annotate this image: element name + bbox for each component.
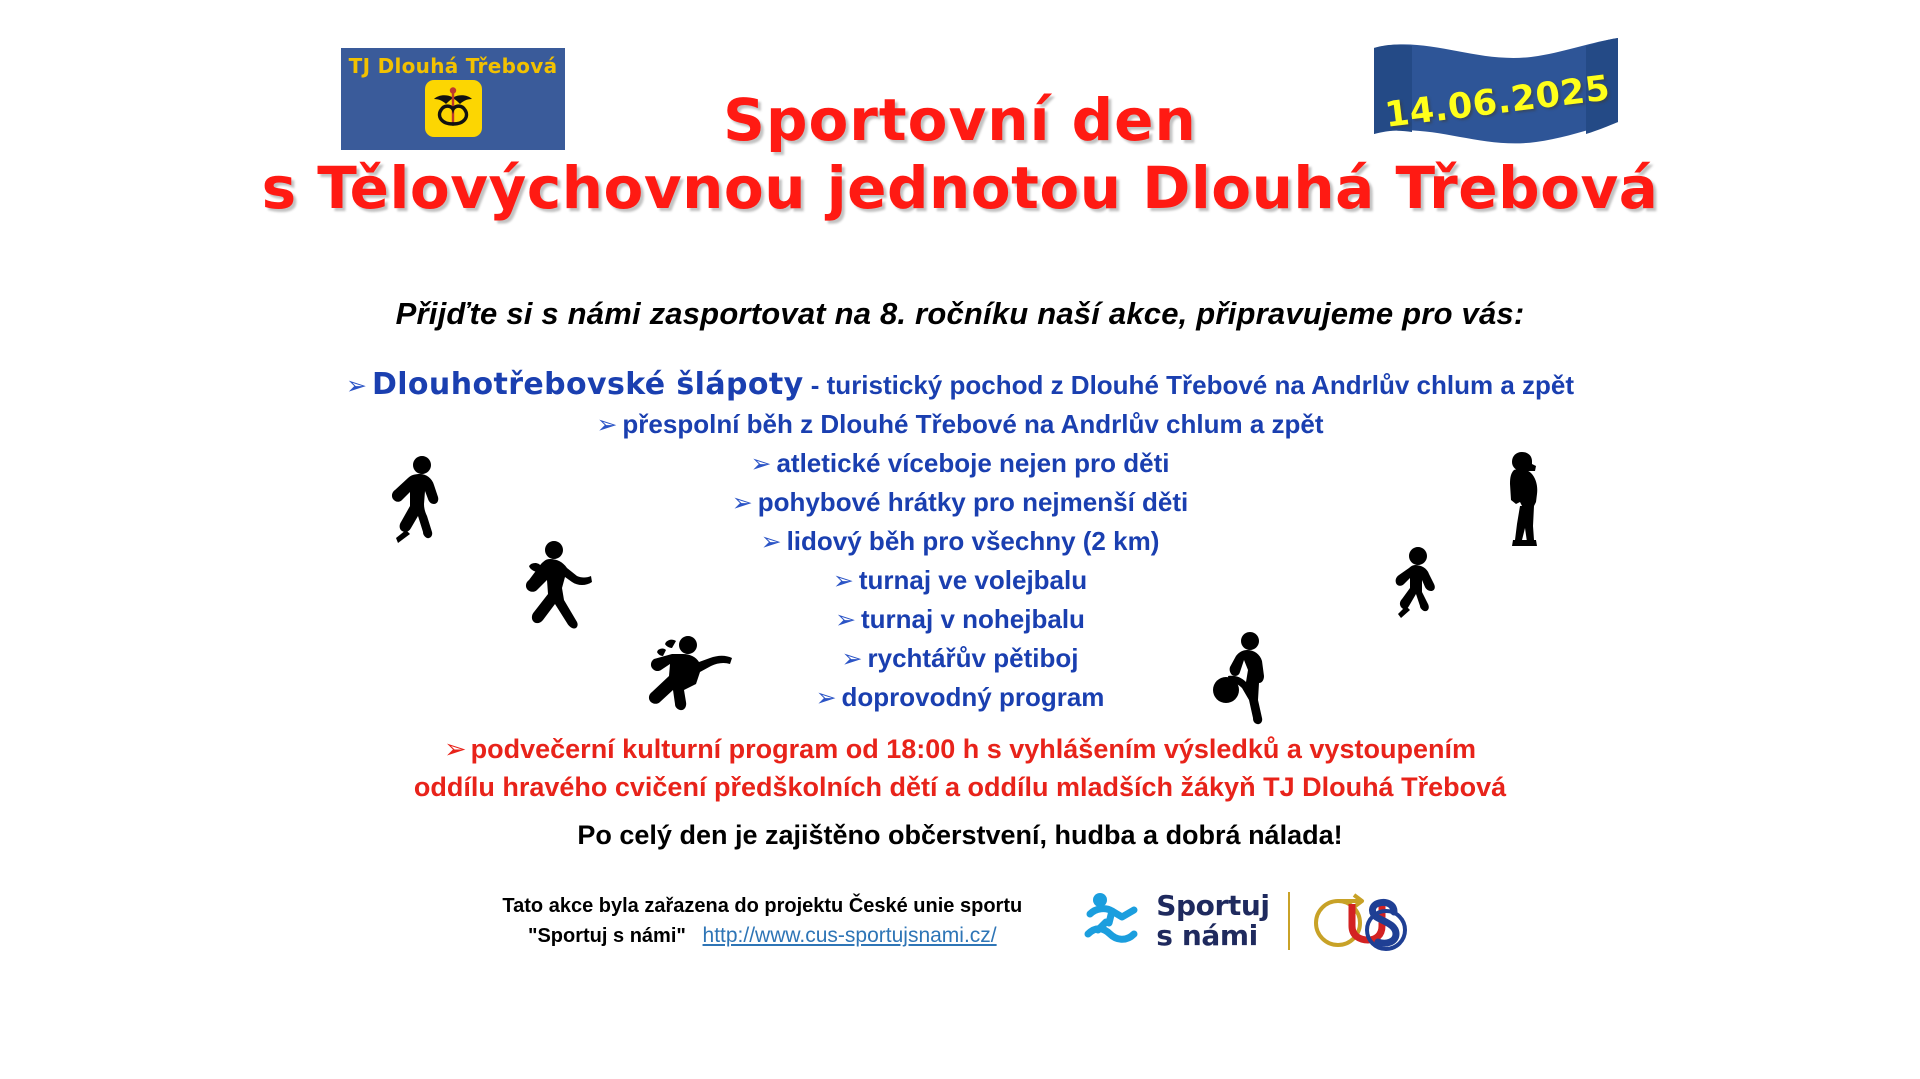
- page-title-line2: s Tělovýchovnou jednotou Dlouhá Třebová: [0, 155, 1920, 221]
- list-item: ➢turnaj ve volejbalu: [0, 561, 1920, 600]
- list-item: ➢přespolní běh z Dlouhé Třebové na Andrl…: [0, 405, 1920, 444]
- list-item-label: doprovodný program: [842, 682, 1105, 712]
- footballer-juggling-silhouette: [1212, 630, 1272, 726]
- page-title-line1: Sportovní den: [0, 88, 1920, 153]
- runner-adult-left-silhouette: [380, 452, 458, 552]
- list-item: ➢rychtářův pětiboj: [0, 639, 1920, 678]
- runner-child-right-silhouette: [1392, 544, 1448, 626]
- footer-credit-line2: "Sportuj s námi" http://www.cus-sportujs…: [502, 921, 1022, 951]
- bullet-arrow-icon: ➢: [816, 684, 842, 712]
- sportuj-s-nami-wordmark: Sportuj s námi: [1156, 891, 1269, 951]
- poster-canvas: TJ Dlouhá Třebová 14.06.2025: [0, 0, 1920, 1079]
- intro-text: Přijďte si s námi zasportovat na 8. ročn…: [0, 296, 1920, 332]
- evening-program-line1-label: podvečerní kulturní program od 18:00 h s…: [471, 734, 1476, 764]
- list-item: ➢lidový běh pro všechny (2 km): [0, 522, 1920, 561]
- bullet-arrow-icon: ➢: [761, 528, 787, 556]
- list-item: ➢atletické víceboje nejen pro děti: [0, 444, 1920, 483]
- bullet-arrow-icon: ➢: [842, 645, 868, 673]
- list-item-label: turnaj v nohejbalu: [861, 604, 1085, 634]
- sportuj-line2: s námi: [1156, 921, 1269, 951]
- evening-program-note: ➢podvečerní kulturní program od 18:00 h …: [0, 730, 1920, 806]
- club-logo-label: TJ Dlouhá Třebová: [349, 54, 558, 78]
- volleyball-spiker-silhouette: [636, 628, 738, 718]
- thrower-left-silhouette: [505, 538, 593, 630]
- list-item: ➢pohybové hrátky pro nejmenší děti: [0, 483, 1920, 522]
- footer-credit-line1: Tato akce byla zařazena do projektu Česk…: [502, 891, 1022, 921]
- poster-title: Sportovní den s Tělovýchovnou jednotou D…: [0, 88, 1920, 221]
- footer-project-name: "Sportuj s námi": [528, 925, 686, 947]
- list-item-label: rychtářův pětiboj: [868, 643, 1079, 673]
- partner-logos: Sportuj s námi: [1082, 890, 1417, 952]
- running-figure-icon: [1082, 890, 1146, 952]
- logo-divider: [1288, 892, 1290, 950]
- footer-url-link[interactable]: http://www.cus-sportujsnami.cz/: [703, 924, 997, 947]
- evening-program-line2: oddílu hravého cvičení předškolních dětí…: [0, 768, 1920, 806]
- footer-credit: Tato akce byla zařazena do projektu Česk…: [502, 891, 1022, 951]
- sportuj-s-nami-logo: Sportuj s námi: [1082, 890, 1269, 952]
- list-item-label: - turistický pochod z Dlouhé Třebové na …: [804, 370, 1574, 400]
- footer: Tato akce byla zařazena do projektu Česk…: [0, 890, 1920, 952]
- bullet-arrow-icon: ➢: [835, 606, 861, 634]
- bullet-arrow-icon: ➢: [751, 450, 777, 478]
- list-item: ➢Dlouhotřebovské šlápoty - turistický po…: [0, 366, 1920, 405]
- bullet-arrow-icon: ➢: [596, 411, 622, 439]
- list-item: ➢turnaj v nohejbalu: [0, 600, 1920, 639]
- bullet-arrow-icon: ➢: [346, 372, 372, 400]
- list-item: ➢doprovodný program: [0, 678, 1920, 717]
- list-item-label: turnaj ve volejbalu: [859, 565, 1087, 595]
- bullet-arrow-icon: ➢: [833, 567, 859, 595]
- evening-program-line1: ➢podvečerní kulturní program od 18:00 h …: [0, 730, 1920, 768]
- program-list: ➢Dlouhotřebovské šlápoty - turistický po…: [0, 366, 1920, 717]
- hiker-backpack-right-silhouette: [1500, 450, 1548, 550]
- list-item-lead: Dlouhotřebovské šlápoty: [372, 367, 804, 402]
- bullet-arrow-icon: ➢: [444, 734, 471, 764]
- cus-logo-icon: [1308, 890, 1418, 952]
- bullet-arrow-icon: ➢: [732, 489, 758, 517]
- sportuj-line1: Sportuj: [1156, 891, 1269, 921]
- list-item-label: lidový běh pro všechny (2 km): [787, 526, 1160, 556]
- list-item-label: pohybové hrátky pro nejmenší děti: [758, 487, 1189, 517]
- list-item-label: atletické víceboje nejen pro děti: [776, 448, 1169, 478]
- refreshments-note: Po celý den je zajištěno občerstvení, hu…: [0, 820, 1920, 851]
- list-item-label: přespolní běh z Dlouhé Třebové na Andrlů…: [622, 409, 1323, 439]
